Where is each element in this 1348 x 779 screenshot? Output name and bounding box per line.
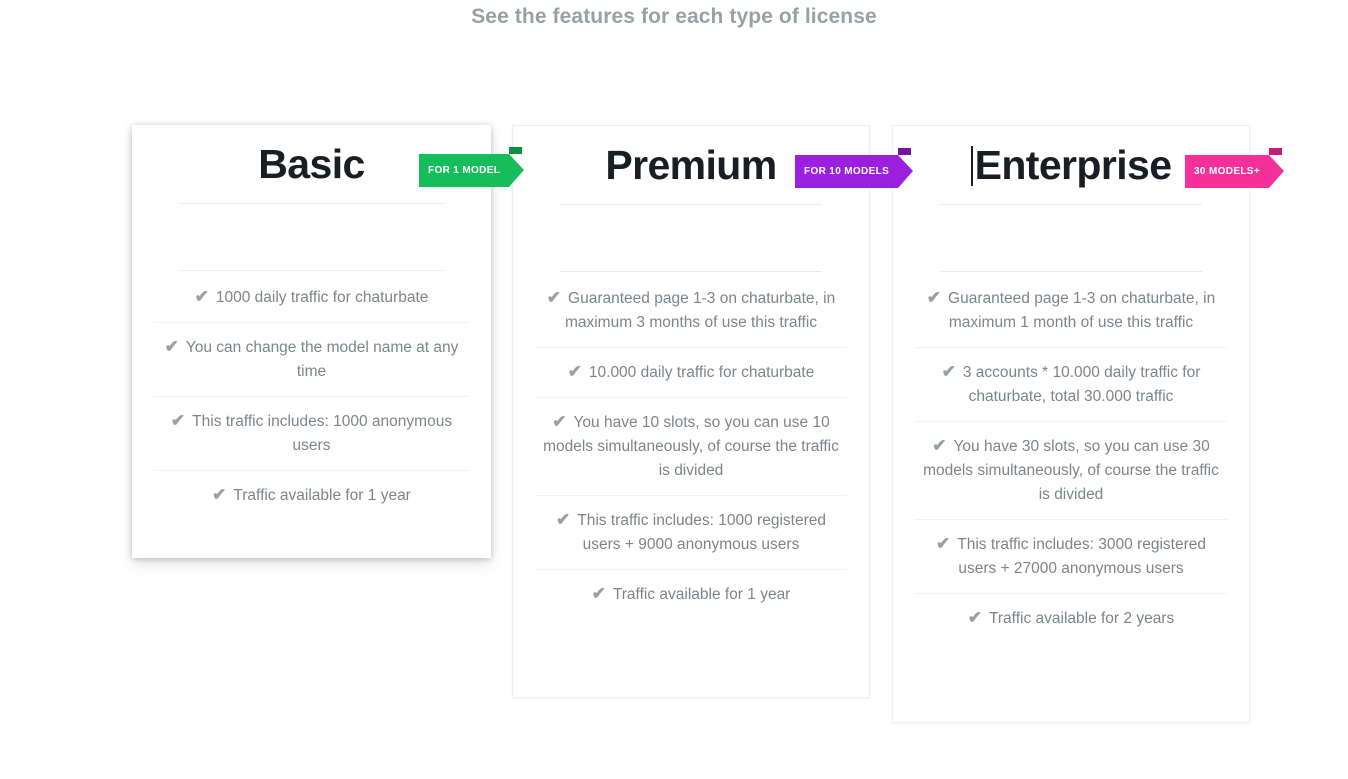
plan-badge-basic: FOR 1 MODEL — [419, 154, 509, 187]
feature-list-premium: ✔Guaranteed page 1-3 on chaturbate, in m… — [535, 272, 847, 619]
plan-badge-label-enterprise: 30 MODELS+ — [1194, 166, 1260, 177]
ribbon-fold-icon — [1269, 148, 1282, 155]
feature-item: ✔10.000 daily traffic for chaturbate — [535, 347, 847, 397]
plan-badge-label-premium: FOR 10 MODELS — [804, 166, 889, 177]
feature-text: You have 30 slots, so you can use 30 mod… — [923, 438, 1219, 503]
feature-text: You have 10 slots, so you can use 10 mod… — [543, 414, 839, 479]
feature-item: ✔Traffic available for 1 year — [535, 569, 847, 619]
check-icon: ✔ — [552, 412, 566, 431]
ribbon-tip-icon — [898, 155, 913, 188]
price-zone-enterprise — [915, 205, 1227, 271]
pricing-cards-row: Basic FOR 1 MODEL ✔1000 daily traffic fo… — [0, 125, 1348, 745]
feature-text: Traffic available for 2 years — [989, 610, 1174, 627]
feature-list-enterprise: ✔Guaranteed page 1-3 on chaturbate, in m… — [915, 272, 1227, 643]
plan-badge-enterprise: 30 MODELS+ — [1185, 155, 1269, 188]
feature-item: ✔This traffic includes: 1000 anonymous u… — [154, 396, 469, 470]
pricing-card-basic[interactable]: Basic FOR 1 MODEL ✔1000 daily traffic fo… — [132, 125, 491, 558]
page-title: See the features for each type of licens… — [0, 5, 1348, 29]
check-icon: ✔ — [195, 287, 209, 306]
ribbon-tip-icon — [1269, 155, 1284, 188]
check-icon: ✔ — [927, 288, 941, 307]
feature-text: You can change the model name at any tim… — [186, 339, 459, 380]
feature-list-basic: ✔1000 daily traffic for chaturbate ✔You … — [154, 271, 469, 520]
feature-item: ✔You have 30 slots, so you can use 30 mo… — [915, 421, 1227, 519]
feature-item: ✔1000 daily traffic for chaturbate — [154, 273, 469, 322]
feature-item: ✔Guaranteed page 1-3 on chaturbate, in m… — [915, 274, 1227, 347]
ribbon-tip-icon — [509, 154, 524, 187]
feature-text: Traffic available for 1 year — [233, 487, 410, 504]
pricing-page: See the features for each type of licens… — [0, 0, 1348, 779]
ribbon-fold-icon — [509, 147, 522, 154]
feature-text: Traffic available for 1 year — [613, 586, 790, 603]
plan-title-premium: Premium — [605, 145, 776, 186]
price-zone-basic — [154, 204, 469, 270]
feature-item: ✔You have 10 slots, so you can use 10 mo… — [535, 397, 847, 495]
pricing-card-enterprise[interactable]: Enterprise 30 MODELS+ ✔Guaranteed page 1… — [892, 125, 1250, 723]
feature-item: ✔You can change the model name at any ti… — [154, 322, 469, 396]
feature-text: Guaranteed page 1-3 on chaturbate, in ma… — [565, 290, 835, 331]
check-icon: ✔ — [547, 288, 561, 307]
text-cursor-icon — [971, 146, 973, 186]
feature-text: Guaranteed page 1-3 on chaturbate, in ma… — [948, 290, 1215, 331]
feature-item: ✔Traffic available for 1 year — [154, 470, 469, 520]
plan-badge-label-basic: FOR 1 MODEL — [428, 165, 500, 176]
check-icon: ✔ — [165, 337, 179, 356]
feature-item: ✔Guaranteed page 1-3 on chaturbate, in m… — [535, 274, 847, 347]
feature-text: 1000 daily traffic for chaturbate — [216, 289, 429, 306]
check-icon: ✔ — [568, 362, 582, 381]
plan-badge-premium: FOR 10 MODELS — [795, 155, 898, 188]
check-icon: ✔ — [968, 608, 982, 627]
feature-text: This traffic includes: 1000 anonymous us… — [192, 413, 452, 454]
feature-text: This traffic includes: 3000 registered u… — [957, 536, 1206, 577]
check-icon: ✔ — [171, 411, 185, 430]
feature-text: 3 accounts * 10.000 daily traffic for ch… — [963, 364, 1201, 405]
card-header-enterprise: Enterprise — [915, 126, 1227, 204]
ribbon-fold-icon — [898, 148, 911, 155]
feature-item: ✔3 accounts * 10.000 daily traffic for c… — [915, 347, 1227, 421]
check-icon: ✔ — [932, 436, 946, 455]
feature-text: This traffic includes: 1000 registered u… — [577, 512, 826, 553]
plan-title-enterprise-text: Enterprise — [975, 142, 1172, 188]
plan-title-enterprise[interactable]: Enterprise — [971, 145, 1172, 186]
feature-text: 10.000 daily traffic for chaturbate — [589, 364, 814, 381]
check-icon: ✔ — [556, 510, 570, 529]
check-icon: ✔ — [592, 584, 606, 603]
pricing-card-premium[interactable]: Premium FOR 10 MODELS ✔Guaranteed page 1… — [512, 125, 870, 698]
feature-item: ✔This traffic includes: 3000 registered … — [915, 519, 1227, 593]
feature-item: ✔Traffic available for 2 years — [915, 593, 1227, 643]
check-icon: ✔ — [212, 485, 226, 504]
feature-item: ✔This traffic includes: 1000 registered … — [535, 495, 847, 569]
check-icon: ✔ — [936, 534, 950, 553]
plan-title-basic: Basic — [258, 144, 364, 185]
price-zone-premium — [535, 205, 847, 271]
check-icon: ✔ — [942, 362, 956, 381]
